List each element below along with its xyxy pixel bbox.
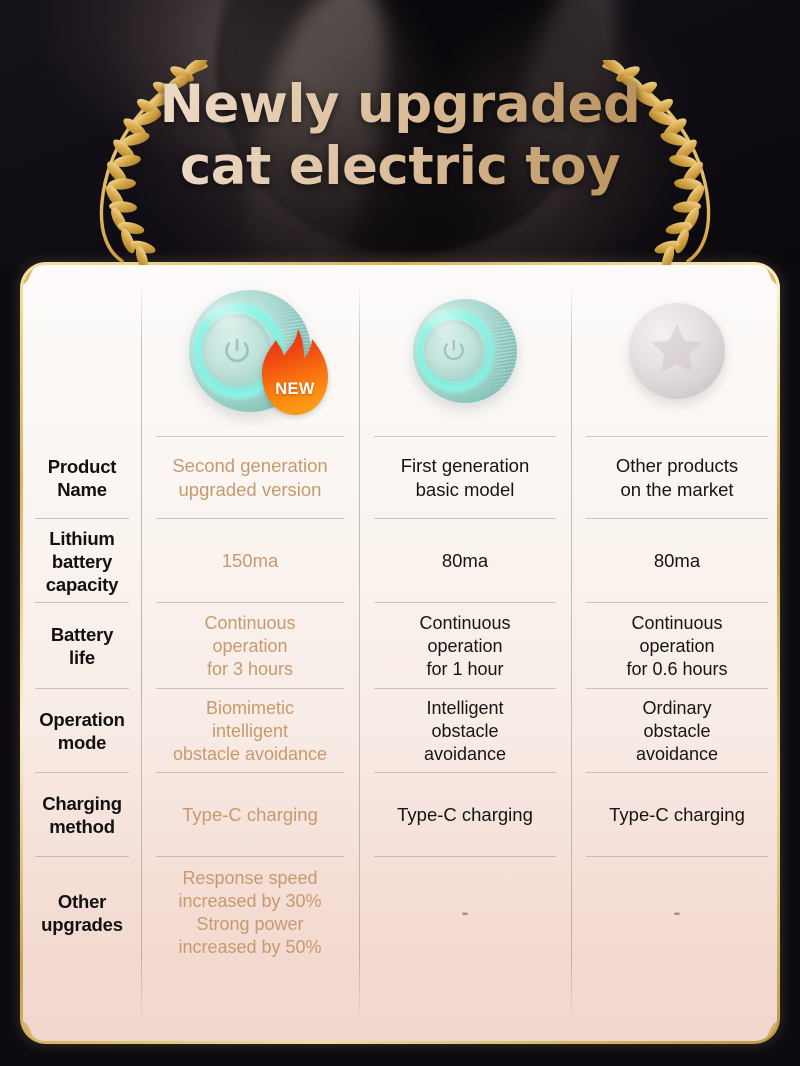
row-label-line: upgrades [41,913,123,936]
cell-other-product-name: Other products on the market [571,437,777,519]
row-label-other-upgrades: Other upgrades [23,857,141,969]
cell-gen2-product-name: Second generation upgraded version [141,437,359,519]
cell-line: Intelligent [424,697,506,720]
cell-other-battery-capacity: 80ma [571,519,777,603]
row-label-operation-mode: Operation mode [23,689,141,773]
cell-gen2-battery-life: Continuous operation for 3 hours [141,603,359,689]
cell-value: - [674,902,681,925]
cell-line: for 3 hours [204,658,295,681]
new-flame-badge: NEW [257,326,333,418]
row-label-line: battery [46,550,118,573]
cell-gen1-operation-mode: Intelligent obstacle avoidance [359,689,571,773]
cell-line: Continuous [419,612,510,635]
row-label-line: capacity [46,573,118,596]
row-label-line: method [42,815,122,838]
title-line-2: cat electric toy [0,136,800,198]
star-icon [648,320,706,378]
row-label-charging-method: Charging method [23,773,141,857]
cell-line: operation [204,635,295,658]
cell-line: Continuous [204,612,295,635]
row-label-battery-life: Battery life [23,603,141,689]
row-label-line: Product [48,455,117,478]
cell-value: Type-C charging [397,803,533,827]
row-label-line: Charging [42,792,122,815]
cell-gen2-battery-capacity: 150ma [141,519,359,603]
cell-other-battery-life: Continuous operation for 0.6 hours [571,603,777,689]
cell-line: for 0.6 hours [626,658,727,681]
comparison-card: NEW [20,262,780,1044]
cell-line: avoidance [424,743,506,766]
cell-line: obstacle [636,720,718,743]
cell-line: obstacle avoidance [173,743,327,766]
row-label-product-name: Product Name [23,437,141,519]
page-title: Newly upgraded cat electric toy [0,74,800,198]
column-divider [359,289,360,1015]
row-label-lithium-battery-capacity: Lithium battery capacity [23,519,141,603]
product-image-gen1 [359,265,571,437]
row-label-line: Lithium [46,527,118,550]
product-image-gen2: NEW [141,265,359,437]
cell-line: Continuous [626,612,727,635]
white-star-ball [629,303,725,399]
title-line-1: Newly upgraded [0,74,800,136]
ball-highlight [425,307,471,338]
comparison-table: NEW [23,265,777,1041]
cell-other-operation-mode: Ordinary obstacle avoidance [571,689,777,773]
cell-line: Response speed [178,867,321,890]
cell-value: Type-C charging [609,803,745,827]
row-label-line: mode [39,731,125,754]
new-badge-label: NEW [257,380,333,399]
corner-flourish-icon [23,265,58,305]
row-label-line: Other [41,890,123,913]
cell-line: upgraded version [172,478,327,502]
cell-line: Biomimetic [173,697,327,720]
cell-value: 150ma [222,549,279,573]
cell-line: operation [626,635,727,658]
row-label-line: Name [48,478,117,501]
cell-other-other-upgrades: - [571,857,777,969]
cell-line: on the market [616,478,738,502]
cell-value: 80ma [442,549,488,573]
row-label-line: life [51,646,113,669]
cell-gen2-operation-mode: Biomimetic intelligent obstacle avoidanc… [141,689,359,773]
cell-line: avoidance [636,743,718,766]
cell-line: for 1 hour [419,658,510,681]
cell-line: Strong power [178,913,321,936]
cell-other-charging-method: Type-C charging [571,773,777,857]
cell-line: First generation [401,454,530,478]
row-label-line: Battery [51,623,113,646]
cell-line: obstacle [424,720,506,743]
cell-line: Other products [616,454,738,478]
corner-flourish-icon [742,1001,777,1041]
cell-line: Second generation [172,454,327,478]
power-button-icon [441,337,467,364]
cell-gen1-product-name: First generation basic model [359,437,571,519]
cell-gen1-battery-capacity: 80ma [359,519,571,603]
cell-line: Ordinary [636,697,718,720]
cell-line: operation [419,635,510,658]
cell-value: - [462,902,469,925]
corner-flourish-icon [742,265,777,305]
corner-flourish-icon [23,1001,58,1041]
cell-gen2-charging-method: Type-C charging [141,773,359,857]
cell-line: increased by 30% [178,890,321,913]
cell-gen2-other-upgrades: Response speed increased by 30% Strong p… [141,857,359,969]
cell-gen1-other-upgrades: - [359,857,571,969]
cell-line: increased by 50% [178,936,321,959]
cell-value: Type-C charging [182,803,318,827]
cell-gen1-battery-life: Continuous operation for 1 hour [359,603,571,689]
column-divider [571,289,572,1015]
cell-line: basic model [401,478,530,502]
hero-header: Newly upgraded cat electric toy [0,0,800,270]
power-button-icon [222,335,252,367]
column-divider [141,289,142,1015]
cell-gen1-charging-method: Type-C charging [359,773,571,857]
cell-value: 80ma [654,549,700,573]
row-label-line: Operation [39,708,125,731]
cell-line: intelligent [173,720,327,743]
